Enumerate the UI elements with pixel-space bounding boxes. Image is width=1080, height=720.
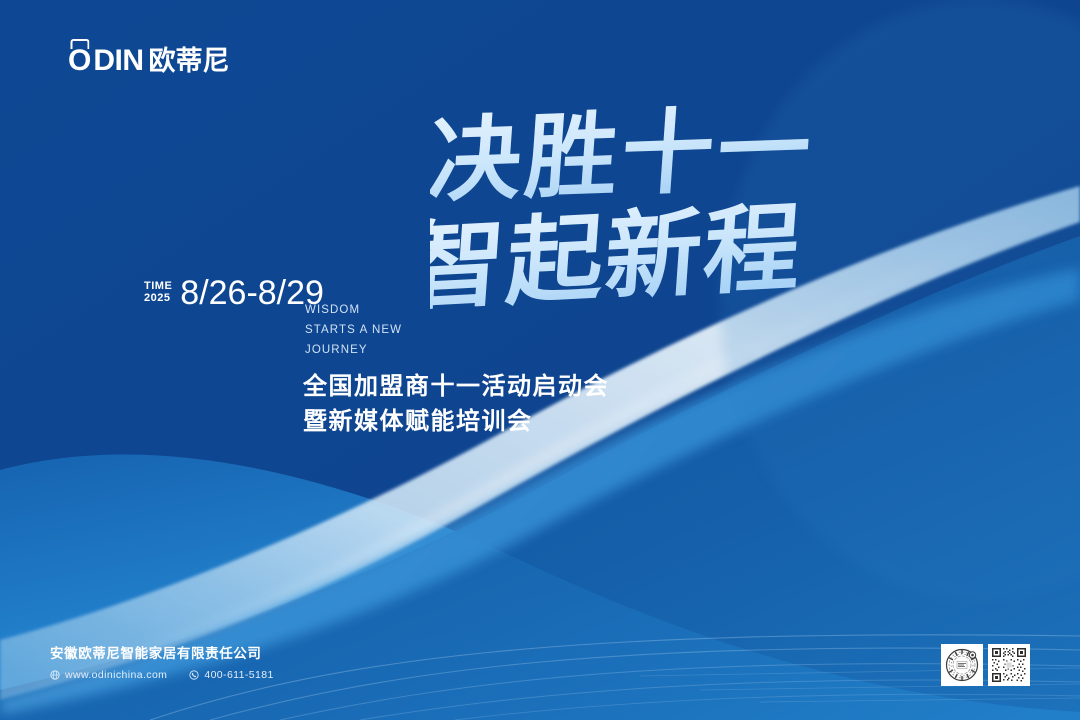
code-group [941,644,1030,686]
event-date: TIME 2025 8/26-8/29 [144,276,324,310]
globe-icon [50,670,60,680]
logo-cjk-text: 欧蒂尼 [149,48,230,75]
slogan-line-2: STARTS A NEW [305,321,402,341]
wechat-mini-program-code[interactable] [941,644,983,686]
headline-art: 决胜十一 智起新程 [430,105,920,345]
date-label-time: TIME [144,280,172,293]
date-label-year: 2025 [144,292,172,305]
slogan-line-1: WISDOM [305,301,402,321]
date-label: TIME 2025 [144,280,172,310]
wechat-qr-code[interactable] [988,644,1030,686]
headline-calligraphy: 决胜十一 智起新程 [430,105,920,345]
subtitle-line-1: 全国加盟商十一活动启动会 [303,370,609,405]
macron-icon [70,39,89,49]
phone-icon [189,670,199,680]
website-item: www.odinichina.com [50,669,167,681]
website-text: www.odinichina.com [65,669,167,681]
circular-code-icon [944,647,980,683]
brand-logo: O DIN 欧蒂尼 [68,46,230,76]
company-name: 安徽欧蒂尼智能家居有限责任公司 [50,645,274,663]
headline-line-2: 智起新程 [430,191,806,324]
english-slogan: WISDOM STARTS A NEW JOURNEY [305,301,402,360]
footer: 安徽欧蒂尼智能家居有限责任公司 www.odinichina.com 400-6… [50,645,274,681]
slogan-line-3: JOURNEY [305,341,402,361]
logo-o-letter: O [68,46,91,76]
date-range: 8/26-8/29 [180,276,324,310]
phone-item: 400-611-5181 [189,669,273,681]
contact-row: www.odinichina.com 400-611-5181 [50,669,274,681]
event-subtitle: 全国加盟商十一活动启动会 暨新媒体赋能培训会 [303,370,609,440]
phone-text: 400-611-5181 [204,669,273,681]
logo-latin-text: DIN [93,46,143,76]
qr-code-icon [991,647,1027,683]
subtitle-line-2: 暨新媒体赋能培训会 [303,405,609,440]
event-poster: O DIN 欧蒂尼 决胜十一 智起新程 TIME 2025 8/26-8/29 [0,0,1080,720]
